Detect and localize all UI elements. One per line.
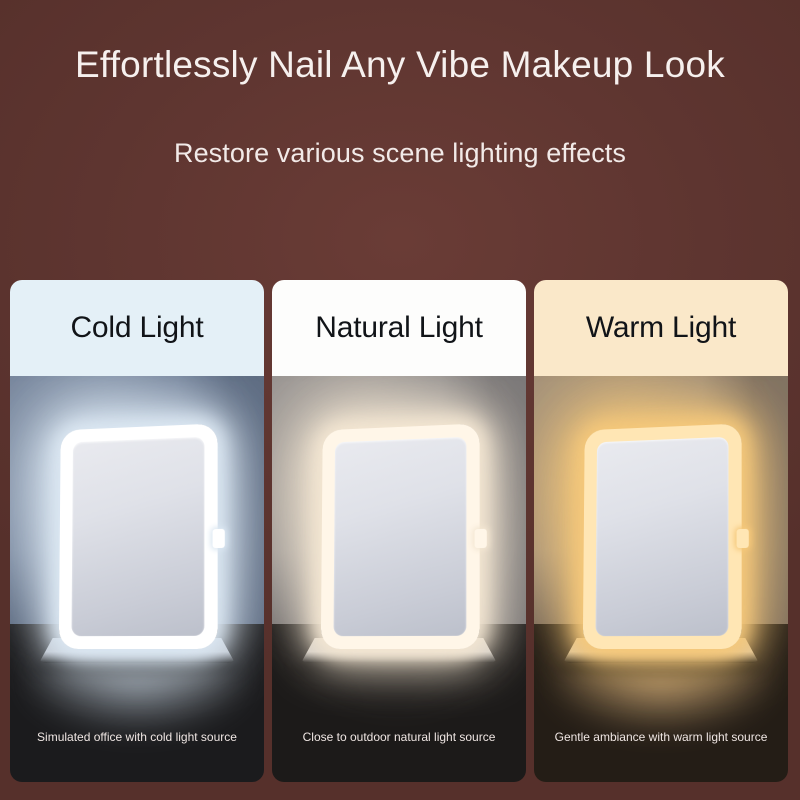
vanity-mirror-product <box>581 424 741 649</box>
product-scene-warm-light <box>534 376 788 782</box>
mirror-glass <box>333 437 466 636</box>
mirror-frame <box>583 423 742 649</box>
panel-label-cold-light: Cold Light <box>70 311 203 345</box>
lighting-panel-warm-light[interactable]: Warm Light <box>534 280 788 782</box>
page-headline: Effortlessly Nail Any Vibe Makeup Look <box>0 44 800 86</box>
mirror-frame <box>321 423 480 649</box>
lighting-mode-panels: Cold Light <box>10 280 790 782</box>
vanity-mirror-product <box>319 424 479 649</box>
caption-warm-light: Gentle ambiance with warm light source <box>534 730 788 744</box>
caption-natural-light: Close to outdoor natural light source <box>272 730 526 744</box>
product-scene-cold-light <box>10 376 264 782</box>
panel-label-natural-light: Natural Light <box>315 311 483 345</box>
power-button-icon[interactable] <box>737 529 749 548</box>
mirror-glass <box>595 437 728 636</box>
panel-header-natural-light: Natural Light <box>272 280 526 376</box>
mirror-glass <box>71 437 204 636</box>
panel-captions: Simulated office with cold light source … <box>10 730 790 744</box>
panel-header-warm-light: Warm Light <box>534 280 788 376</box>
power-button-icon[interactable] <box>213 529 225 548</box>
power-button-icon[interactable] <box>475 529 487 548</box>
promo-page: Effortlessly Nail Any Vibe Makeup Look R… <box>0 0 800 800</box>
panel-label-warm-light: Warm Light <box>586 311 736 345</box>
lighting-panel-cold-light[interactable]: Cold Light <box>10 280 264 782</box>
mirror-frame <box>59 423 218 649</box>
panel-header-cold-light: Cold Light <box>10 280 264 376</box>
page-subheadline: Restore various scene lighting effects <box>0 138 800 169</box>
vanity-mirror-product <box>57 424 217 649</box>
lighting-panel-natural-light[interactable]: Natural Light <box>272 280 526 782</box>
caption-cold-light: Simulated office with cold light source <box>10 730 264 744</box>
product-scene-natural-light <box>272 376 526 782</box>
